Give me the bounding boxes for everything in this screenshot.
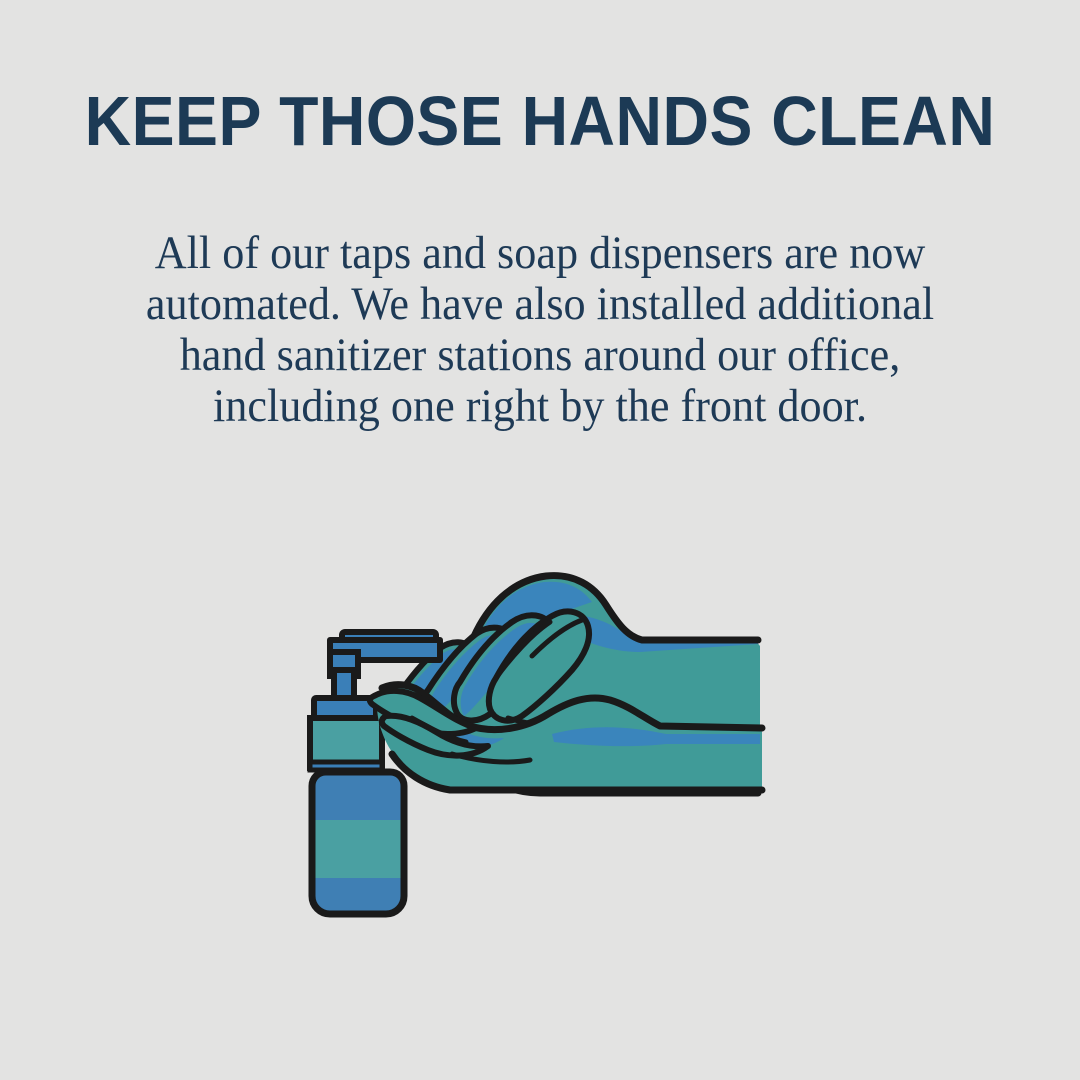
illustration-svg — [300, 548, 790, 934]
hands-using-soap-dispenser-illustration — [300, 548, 790, 934]
bottle-body-bands — [308, 768, 408, 920]
bottle-middle-band — [308, 820, 408, 878]
body-copy-line: including one right by the front door. — [70, 381, 1010, 432]
body-copy: All of our taps and soap dispensers are … — [70, 228, 1010, 432]
body-copy-line: automated. We have also installed additi… — [70, 279, 1010, 330]
body-copy-line: hand sanitizer stations around our offic… — [70, 330, 1010, 381]
poster-canvas: KEEP THOSE HANDS CLEAN All of our taps a… — [0, 0, 1080, 1080]
body-copy-line: All of our taps and soap dispensers are … — [70, 228, 1010, 279]
page-title: KEEP THOSE HANDS CLEAN — [43, 86, 1037, 156]
